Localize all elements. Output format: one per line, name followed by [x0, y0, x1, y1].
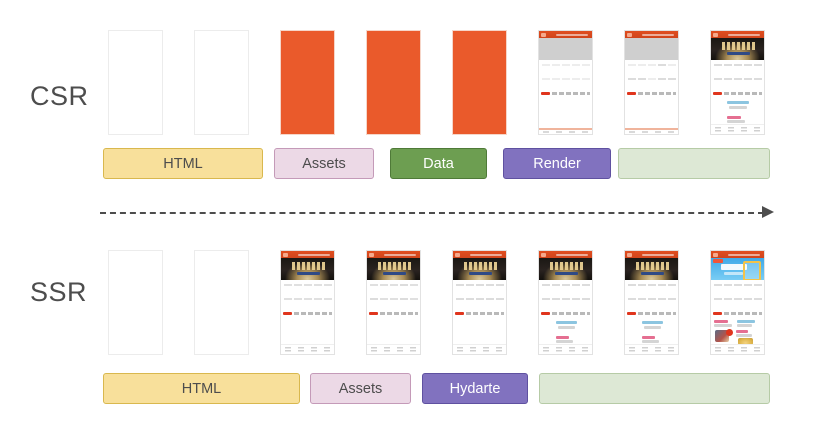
banner-headline: [550, 262, 583, 270]
feed-meta: [642, 340, 659, 343]
feed-price: [642, 336, 655, 339]
content-feed: [539, 317, 592, 345]
promo-tag: [713, 92, 722, 95]
search-field-placeholder: [728, 254, 760, 256]
csr-frame-1-blank: [108, 30, 163, 135]
app-logo-icon: [627, 33, 632, 37]
hero-banner-image: [367, 258, 420, 280]
bottom-nav: [453, 344, 506, 354]
phone-screen: [625, 251, 678, 354]
app-topbar: [539, 31, 592, 38]
phone-screen: [711, 31, 764, 134]
icon-grid-row-2: [368, 296, 419, 309]
phone-screen: [711, 251, 764, 354]
app-logo-icon: [627, 253, 632, 257]
icon-grid-row-2: [454, 296, 505, 309]
hero-banner-image: [281, 258, 334, 280]
timeline-arrow-head-icon: [762, 206, 774, 218]
promo-text: [294, 312, 332, 315]
app-logo-icon: [713, 253, 718, 257]
feed-price: [736, 330, 748, 333]
row-label-csr: CSR: [30, 81, 89, 112]
ssr-frame-3-html: [280, 250, 335, 355]
promo-strip: [713, 311, 762, 315]
diagram-canvas: CSR: [0, 0, 824, 431]
icon-grid-row-2: [626, 76, 677, 89]
feed-card-2-title: [737, 320, 755, 323]
promo-tag: [283, 312, 292, 315]
ssr-frame-7-content: [624, 250, 679, 355]
phone-screen: [281, 251, 334, 354]
icon-grid-row-1: [712, 282, 763, 295]
promo-badge: [713, 259, 723, 263]
app-topbar: [539, 251, 592, 258]
banner-placeholder: [625, 38, 678, 60]
csr-bar-html: HTML: [103, 148, 263, 179]
icon-grid-row-1: [368, 282, 419, 295]
promo-tag: [455, 312, 464, 315]
icon-grid-row-1: [626, 282, 677, 295]
promo-strip: [713, 91, 762, 95]
icon-grid-row-2: [626, 296, 677, 309]
feed-meta: [556, 340, 573, 343]
feed-subtitle: [644, 326, 661, 329]
csr-frame-3-orange: [280, 30, 335, 135]
banner-subhead: [641, 272, 664, 275]
app-logo-icon: [369, 253, 374, 257]
ssr-frame-2-blank: [194, 250, 249, 355]
app-topbar: [281, 251, 334, 258]
icon-grid-row-1: [540, 282, 591, 295]
csr-bar-render: Render: [503, 148, 611, 179]
ssr-frame-6-content: [538, 250, 593, 355]
icon-grid-row-2: [540, 76, 591, 89]
promo-tag: [541, 312, 550, 315]
ssr-bar-assets: Assets: [310, 373, 411, 404]
feed-card-2-meta: [737, 324, 752, 327]
app-topbar: [711, 31, 764, 38]
search-field-placeholder: [642, 34, 674, 36]
banner-headline: [292, 262, 325, 270]
promo-tag: [713, 312, 722, 315]
feed-title: [642, 321, 663, 324]
bottom-nav: [539, 128, 592, 134]
feed-price: [556, 336, 569, 339]
app-logo-icon: [541, 33, 546, 37]
promo-tag: [541, 92, 550, 95]
banner-subhead: [297, 272, 320, 275]
banner-headline: [464, 262, 497, 270]
promo-strip: [283, 311, 332, 315]
banner-headline: [722, 42, 755, 50]
promo-text: [638, 312, 676, 315]
promo-text: [724, 312, 762, 315]
app-topbar: [625, 31, 678, 38]
promo-strip: [627, 311, 676, 315]
promo-tag: [627, 312, 636, 315]
promo-text: [380, 312, 418, 315]
hero-banner-promo: [711, 258, 764, 280]
promo-strip: [541, 91, 590, 95]
banner-subhead: [383, 272, 406, 275]
search-field-placeholder: [556, 34, 588, 36]
ssr-bar-idle: [539, 373, 770, 404]
banner-placeholder: [539, 38, 592, 60]
bottom-nav: [711, 124, 764, 134]
csr-frame-4-orange: [366, 30, 421, 135]
feed-subtitle: [729, 106, 747, 109]
icon-grid-row-2: [712, 296, 763, 309]
phone-screen: [367, 251, 420, 354]
csr-frame-8-complete: [710, 30, 765, 135]
feed-title: [727, 101, 749, 104]
promo-text: [638, 92, 676, 95]
bottom-nav: [711, 344, 764, 354]
ssr-frame-5-icons: [452, 250, 507, 355]
app-logo-icon: [283, 253, 288, 257]
row-label-ssr: SSR: [30, 277, 87, 308]
bottom-nav: [539, 344, 592, 354]
search-field-placeholder: [642, 254, 674, 256]
banner-subhead: [724, 272, 743, 275]
promo-text: [552, 92, 590, 95]
feed-title: [556, 321, 577, 324]
csr-bar-idle: [618, 148, 770, 179]
bottom-nav: [367, 344, 420, 354]
content-feed: [625, 317, 678, 345]
search-field-placeholder: [728, 34, 760, 36]
timeline-arrow-line: [100, 212, 764, 214]
content-feed: [711, 317, 764, 345]
csr-frame-2-blank: [194, 30, 249, 135]
search-field-placeholder: [298, 254, 330, 256]
bottom-nav: [281, 344, 334, 354]
icon-grid-row-2: [540, 296, 591, 309]
search-field-placeholder: [470, 254, 502, 256]
csr-frame-7-partial: [624, 30, 679, 135]
banner-illustration-icon: [743, 261, 761, 280]
hero-banner-image: [453, 258, 506, 280]
bottom-nav: [625, 128, 678, 134]
bottom-nav: [625, 344, 678, 354]
csr-bar-assets: Assets: [274, 148, 374, 179]
phone-screen: [539, 251, 592, 354]
csr-frame-6-skeleton: [538, 30, 593, 135]
app-topbar: [367, 251, 420, 258]
feed-subtitle: [558, 326, 575, 329]
ssr-bar-html: HTML: [103, 373, 300, 404]
banner-headline: [378, 262, 411, 270]
app-topbar: [711, 251, 764, 258]
icon-grid-row-1: [454, 282, 505, 295]
icon-grid-row-1: [626, 62, 677, 75]
ssr-frame-1-blank: [108, 250, 163, 355]
hero-banner-image: [711, 38, 764, 60]
icon-grid-row-1: [712, 62, 763, 75]
feed-meta: [727, 120, 745, 123]
search-field-placeholder: [556, 254, 588, 256]
feed-price: [727, 116, 741, 119]
icon-grid-row-1: [540, 62, 591, 75]
csr-bar-data: Data: [390, 148, 487, 179]
app-logo-icon: [541, 253, 546, 257]
ssr-frame-4-icons-partial: [366, 250, 421, 355]
hero-banner-image: [539, 258, 592, 280]
promo-strip: [627, 91, 676, 95]
search-field-placeholder: [384, 254, 416, 256]
banner-subhead: [555, 272, 578, 275]
notification-badge: [726, 329, 733, 336]
phone-screen: [625, 31, 678, 134]
icon-grid-row-2: [282, 296, 333, 309]
feed-card-1-title: [714, 320, 728, 323]
promo-text: [724, 92, 762, 95]
ssr-bar-hydarte: Hydarte: [422, 373, 528, 404]
feed-card-1-meta: [714, 324, 732, 327]
icon-grid-row-1: [282, 282, 333, 295]
promo-strip: [369, 311, 418, 315]
icon-grid-row-2: [712, 76, 763, 89]
feed-meta: [736, 334, 752, 337]
csr-frame-5-orange: [452, 30, 507, 135]
promo-text: [552, 312, 590, 315]
hero-banner-image: [625, 258, 678, 280]
ssr-frame-8-interactive: [710, 250, 765, 355]
app-logo-icon: [713, 33, 718, 37]
phone-screen: [539, 31, 592, 134]
promo-tag: [369, 312, 378, 315]
promo-strip: [541, 311, 590, 315]
content-feed: [711, 97, 764, 125]
app-topbar: [625, 251, 678, 258]
promo-text: [466, 312, 504, 315]
app-logo-icon: [455, 253, 460, 257]
banner-subhead: [727, 52, 750, 55]
banner-subhead: [469, 272, 492, 275]
banner-headline: [636, 262, 669, 270]
phone-screen: [453, 251, 506, 354]
promo-tag: [627, 92, 636, 95]
app-topbar: [453, 251, 506, 258]
promo-strip: [455, 311, 504, 315]
